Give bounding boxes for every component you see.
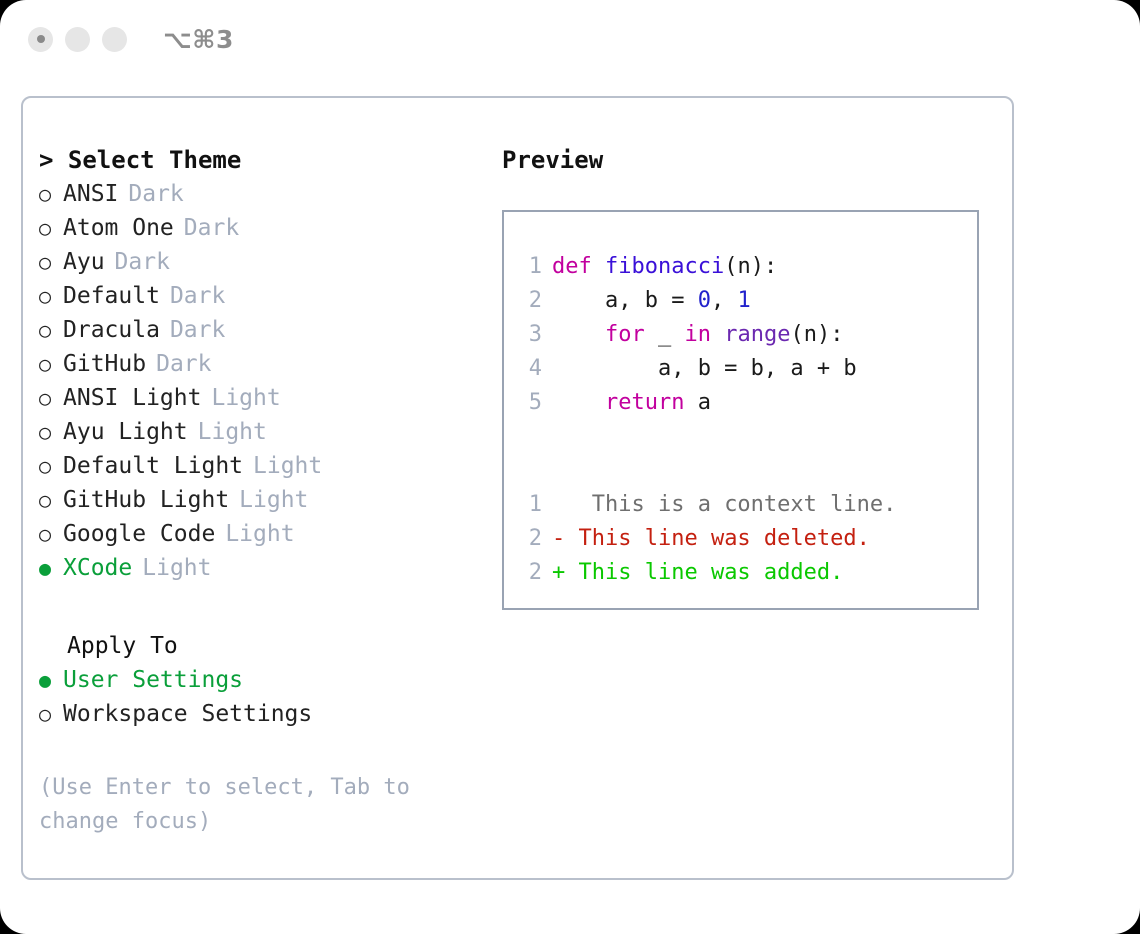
diff-marker — [552, 488, 565, 522]
radio-unselected-icon[interactable]: ○ — [39, 449, 63, 483]
main-panel: > Select Theme ○ ANSI Dark ○ Atom One Da… — [21, 96, 1014, 880]
radio-unselected-icon[interactable]: ○ — [39, 279, 63, 313]
theme-item-google-code[interactable]: ○ Google Code Light — [39, 517, 489, 551]
theme-item-tag: Dark — [170, 279, 225, 313]
app-window: ⌥⌘3 > Select Theme ○ ANSI Dark ○ Atom On… — [0, 0, 1140, 934]
diff-marker: - — [552, 522, 565, 556]
code-preview-box: 1 def fibonacci(n): 2 a, b = 0, 1 3 for … — [502, 210, 979, 610]
code-line: 5 return a — [504, 386, 977, 420]
token-number: 1 — [737, 288, 750, 313]
diff-line-deleted: 2 - This line was deleted. — [504, 522, 977, 556]
theme-item-xcode[interactable]: ● XCode Light — [39, 551, 489, 585]
theme-item-label: ANSI Light — [63, 381, 201, 415]
theme-item-tag: Dark — [128, 177, 183, 211]
preview-column: Preview 1 def fibonacci(n): 2 a, b = 0, … — [502, 143, 1002, 610]
token-function: fibonacci — [605, 254, 724, 279]
theme-list[interactable]: ○ ANSI Dark ○ Atom One Dark ○ Ayu Dark ○… — [39, 177, 489, 585]
token-keyword: for — [552, 322, 658, 347]
apply-to-item-user-settings[interactable]: ● User Settings — [39, 663, 489, 697]
theme-item-label: GitHub — [63, 347, 146, 381]
radio-unselected-icon[interactable]: ○ — [39, 697, 63, 731]
line-number: 3 — [504, 318, 552, 352]
theme-item-label: Default — [63, 279, 160, 313]
theme-item-label: ANSI — [63, 177, 118, 211]
page-title-text: Select Theme — [68, 146, 241, 174]
code-content: return a — [552, 386, 711, 420]
diff-line-context: 1 This is a context line. — [504, 488, 977, 522]
window-dot-active-inner — [37, 35, 45, 43]
radio-unselected-icon[interactable]: ○ — [39, 211, 63, 245]
theme-item-default[interactable]: ○ Default Dark — [39, 279, 489, 313]
token-plain: a — [698, 390, 711, 415]
radio-unselected-icon[interactable]: ○ — [39, 245, 63, 279]
theme-item-label: Google Code — [63, 517, 215, 551]
preview-title: Preview — [502, 143, 1002, 177]
theme-item-tag: Light — [211, 381, 280, 415]
page-title: > Select Theme — [39, 143, 489, 177]
code-blank-line — [504, 420, 977, 454]
theme-item-github[interactable]: ○ GitHub Dark — [39, 347, 489, 381]
apply-to-item-workspace-settings[interactable]: ○ Workspace Settings — [39, 697, 489, 731]
line-number: 1 — [504, 488, 552, 522]
line-number: 1 — [504, 250, 552, 284]
theme-item-label: Default Light — [63, 449, 243, 483]
theme-item-github-light[interactable]: ○ GitHub Light Light — [39, 483, 489, 517]
theme-item-tag: Light — [225, 517, 294, 551]
radio-selected-icon[interactable]: ● — [39, 663, 63, 697]
radio-unselected-icon[interactable]: ○ — [39, 313, 63, 347]
token-number: 0 — [698, 288, 711, 313]
theme-item-tag: Light — [239, 483, 308, 517]
title-bar: ⌥⌘3 — [0, 0, 1140, 78]
theme-item-ansi[interactable]: ○ ANSI Dark — [39, 177, 489, 211]
line-number: 2 — [504, 556, 552, 590]
radio-unselected-icon[interactable]: ○ — [39, 415, 63, 449]
token-plain: a, b = — [552, 288, 698, 313]
code-line: 4 a, b = b, a + b — [504, 352, 977, 386]
code-line: 3 for _ in range(n): — [504, 318, 977, 352]
token-plain: , — [711, 288, 738, 313]
token-keyword: def — [552, 254, 605, 279]
code-content: a, b = 0, 1 — [552, 284, 751, 318]
code-content: a, b = b, a + b — [552, 352, 857, 386]
radio-unselected-icon[interactable]: ○ — [39, 517, 63, 551]
theme-item-tag: Light — [253, 449, 322, 483]
diff-content: This line was added. — [565, 556, 843, 590]
line-number: 4 — [504, 352, 552, 386]
apply-to-item-label: User Settings — [63, 663, 243, 697]
radio-unselected-icon[interactable]: ○ — [39, 381, 63, 415]
code-content: for _ in range(n): — [552, 318, 843, 352]
apply-to-title: Apply To — [67, 629, 489, 663]
window-dot-third[interactable] — [102, 27, 127, 52]
theme-item-tag: Dark — [115, 245, 170, 279]
code-content: def fibonacci(n): — [552, 250, 777, 284]
theme-item-label: Ayu Light — [63, 415, 188, 449]
keyboard-hint-text: (Use Enter to select, Tab to change focu… — [39, 771, 439, 839]
theme-item-dracula[interactable]: ○ Dracula Dark — [39, 313, 489, 347]
token-plain: _ — [658, 322, 685, 347]
line-number: 5 — [504, 386, 552, 420]
radio-unselected-icon[interactable]: ○ — [39, 483, 63, 517]
diff-content: This is a context line. — [565, 488, 896, 522]
window-dot-second[interactable] — [65, 27, 90, 52]
theme-picker-column: > Select Theme ○ ANSI Dark ○ Atom One Da… — [39, 143, 489, 839]
token-plain: (n): — [790, 322, 843, 347]
theme-item-atom-one[interactable]: ○ Atom One Dark — [39, 211, 489, 245]
theme-item-label: XCode — [63, 551, 132, 585]
radio-unselected-icon[interactable]: ○ — [39, 347, 63, 381]
window-dot-active[interactable] — [28, 27, 53, 52]
keyboard-shortcut-label: ⌥⌘3 — [163, 25, 234, 54]
theme-item-ayu-light[interactable]: ○ Ayu Light Light — [39, 415, 489, 449]
theme-item-tag: Dark — [156, 347, 211, 381]
theme-item-label: Dracula — [63, 313, 160, 347]
token-keyword: in — [684, 322, 724, 347]
theme-item-ayu[interactable]: ○ Ayu Dark — [39, 245, 489, 279]
code-line: 2 a, b = 0, 1 — [504, 284, 977, 318]
theme-item-tag: Light — [198, 415, 267, 449]
apply-to-item-label: Workspace Settings — [63, 697, 312, 731]
token-plain: a, b = b, a + b — [552, 356, 857, 381]
theme-item-label: Ayu — [63, 245, 105, 279]
radio-unselected-icon[interactable]: ○ — [39, 177, 63, 211]
window-controls — [28, 27, 127, 52]
line-number: 2 — [504, 522, 552, 556]
code-line: 1 def fibonacci(n): — [504, 250, 977, 284]
theme-item-tag: Light — [142, 551, 211, 585]
token-plain: (n): — [724, 254, 777, 279]
token-builtin: range — [724, 322, 790, 347]
line-number: 2 — [504, 284, 552, 318]
radio-selected-icon[interactable]: ● — [39, 551, 63, 585]
prompt-caret-icon: > — [39, 146, 53, 174]
token-keyword: return — [552, 390, 698, 415]
diff-content: This line was deleted. — [565, 522, 870, 556]
theme-item-label: Atom One — [63, 211, 174, 245]
theme-item-default-light[interactable]: ○ Default Light Light — [39, 449, 489, 483]
theme-item-label: GitHub Light — [63, 483, 229, 517]
theme-item-tag: Dark — [184, 211, 239, 245]
diff-line-added: 2 + This line was added. — [504, 556, 977, 590]
diff-marker: + — [552, 556, 565, 590]
code-blank-line — [504, 454, 977, 488]
theme-item-ansi-light[interactable]: ○ ANSI Light Light — [39, 381, 489, 415]
apply-to-section: Apply To ● User Settings ○ Workspace Set… — [39, 629, 489, 731]
theme-item-tag: Dark — [170, 313, 225, 347]
